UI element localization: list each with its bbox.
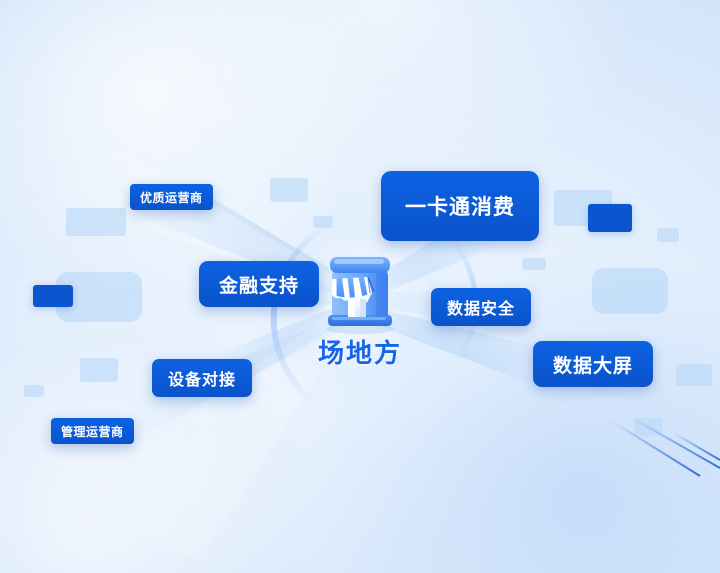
node-financial-support[interactable]: 金融支持 [199, 261, 319, 307]
node-data-dashboard[interactable]: 数据大屏 [533, 341, 653, 387]
node-label: 优质运营商 [140, 189, 203, 206]
node-label: 数据大屏 [553, 351, 633, 378]
node-label: 一卡通消费 [405, 191, 515, 221]
node-device-integration[interactable]: 设备对接 [152, 359, 252, 397]
infographic-canvas: 场地方 优质运营商 金融支持 设备对接 管理运营商 一卡通消费 数据安全 数据大… [0, 0, 720, 573]
shop-storefront-icon [312, 243, 408, 335]
node-label: 设备对接 [168, 366, 236, 390]
node-label: 金融支持 [219, 271, 299, 298]
node-data-security[interactable]: 数据安全 [431, 288, 531, 326]
node-label: 管理运营商 [61, 423, 124, 440]
node-label: 数据安全 [447, 295, 515, 319]
node-manage-operator[interactable]: 管理运营商 [51, 418, 134, 444]
node-quality-operator[interactable]: 优质运营商 [130, 184, 213, 210]
node-allinone-card[interactable]: 一卡通消费 [381, 171, 539, 241]
